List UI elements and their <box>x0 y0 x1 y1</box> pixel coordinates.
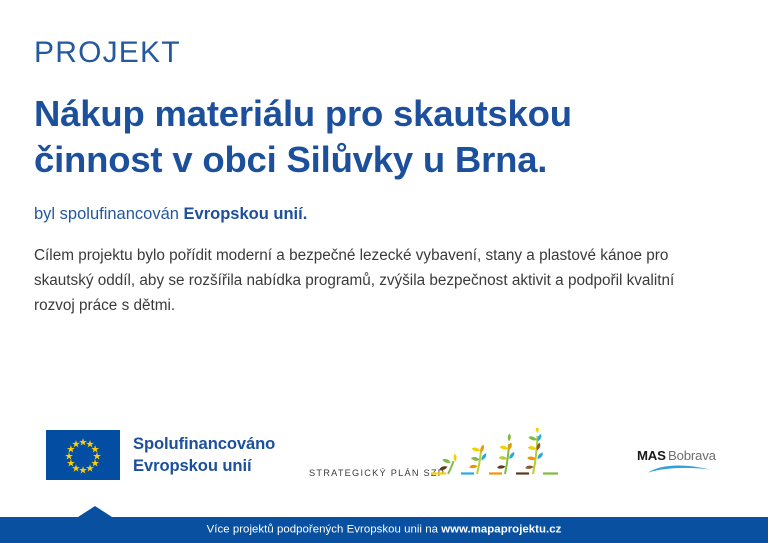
footer-notch-triangle <box>78 506 112 517</box>
logo-strip: Spolufinancováno Evropskou unií STRATEGI… <box>0 424 768 500</box>
footer-text-prefix: Více projektů podpořených Evropskou unii… <box>207 523 442 535</box>
eu-funding-logo: Spolufinancováno Evropskou unií <box>46 430 275 480</box>
eu-logo-caption-line1: Spolufinancováno <box>133 433 275 455</box>
poster-canvas: PROJEKT Nákup materiálu pro skautskou či… <box>0 0 768 543</box>
eu-logo-caption: Spolufinancováno Evropskou unií <box>133 433 275 477</box>
footer-bar: Více projektů podpořených Evropskou unii… <box>0 517 768 543</box>
funding-statement-emphasis: Evropskou unií. <box>184 205 308 223</box>
szp-strategic-plan-logo: STRATEGICKÝ PLÁN SZP <box>309 428 579 490</box>
footer-text: Více projektů podpořených Evropskou unii… <box>0 524 768 535</box>
svg-text:STRATEGICKÝ PLÁN SZP: STRATEGICKÝ PLÁN SZP <box>309 468 445 478</box>
svg-text:Bobrava: Bobrava <box>668 448 717 463</box>
footer-link-url[interactable]: www.mapaprojektu.cz <box>441 523 561 535</box>
eu-logo-caption-line2: Evropskou unií <box>133 455 275 477</box>
funding-statement-prefix: byl spolufinancován <box>34 205 184 223</box>
sprout-plants-icon <box>431 428 558 475</box>
wave-swoosh-icon <box>648 466 710 473</box>
page-eyebrow: PROJEKT <box>34 36 734 69</box>
project-description: Cílem projektu bylo pořídit moderní a be… <box>34 244 716 318</box>
eu-flag-icon <box>46 430 120 480</box>
mas-bobrava-logo: MAS Bobrava <box>631 444 727 478</box>
svg-text:MAS: MAS <box>637 448 666 463</box>
funding-statement: byl spolufinancován Evropskou unií. <box>34 204 734 225</box>
text-content-block: PROJEKT Nákup materiálu pro skautskou či… <box>34 36 734 319</box>
page-title: Nákup materiálu pro skautskou činnost v … <box>34 91 694 183</box>
